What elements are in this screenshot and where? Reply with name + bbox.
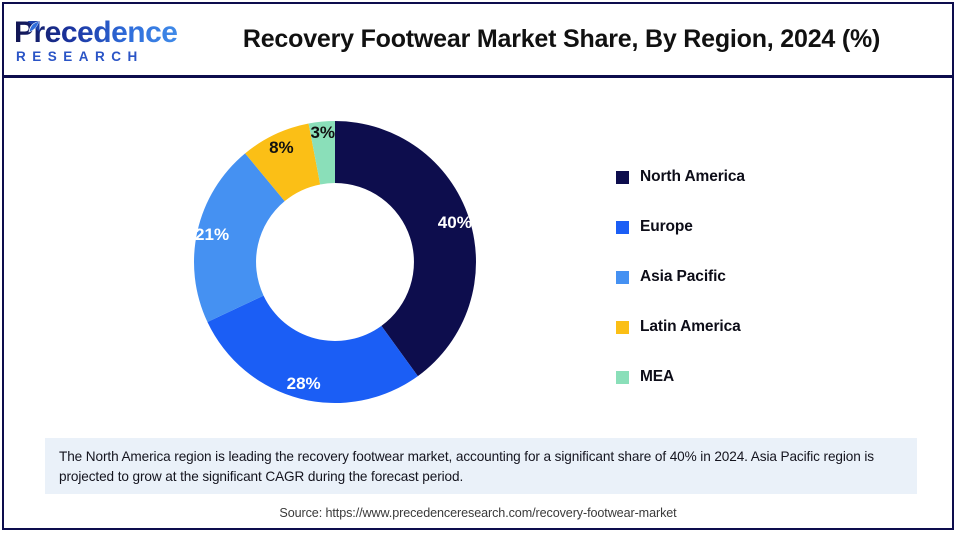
slice-value-label: 8%	[269, 138, 294, 158]
donut-chart: 40%28%21%8%3%	[193, 120, 477, 404]
slice-value-label: 3%	[310, 123, 335, 143]
legend-item-label: Europe	[640, 218, 693, 236]
legend-item[interactable]: North America	[616, 152, 866, 202]
legend-item[interactable]: Asia Pacific	[616, 252, 866, 302]
donut-slice[interactable]	[335, 121, 476, 376]
caption-text: The North America region is leading the …	[59, 447, 903, 487]
slice-value-label: 40%	[438, 213, 472, 233]
legend-swatch-icon	[616, 171, 629, 184]
legend-item-label: North America	[640, 168, 745, 186]
legend-item[interactable]: Latin America	[616, 302, 866, 352]
slice-value-label: 28%	[287, 374, 321, 394]
donut-slice-group	[194, 121, 476, 403]
legend-item-label: Asia Pacific	[640, 268, 726, 286]
slice-value-label: 21%	[195, 225, 229, 245]
page-title: Recovery Footwear Market Share, By Regio…	[189, 4, 934, 75]
legend-swatch-icon	[616, 271, 629, 284]
header-bar: Precedence RESEARCH Recovery Footwear Ma…	[4, 4, 952, 78]
logo-subtext: RESEARCH	[16, 49, 144, 64]
source-text: Source: https://www.precedenceresearch.c…	[4, 506, 952, 520]
caption-box: The North America region is leading the …	[45, 438, 917, 494]
chart-area: 40%28%21%8%3% North AmericaEuropeAsia Pa…	[4, 78, 952, 428]
legend-item-label: MEA	[640, 368, 674, 386]
leaf-mark-icon	[26, 20, 41, 36]
chart-frame: Precedence RESEARCH Recovery Footwear Ma…	[2, 2, 954, 530]
legend-swatch-icon	[616, 321, 629, 334]
legend-swatch-icon	[616, 371, 629, 384]
legend-item[interactable]: Europe	[616, 202, 866, 252]
donut-chart-svg	[193, 120, 477, 404]
legend-item-label: Latin America	[640, 318, 741, 336]
legend-swatch-icon	[616, 221, 629, 234]
chart-legend: North AmericaEuropeAsia PacificLatin Ame…	[616, 152, 866, 402]
legend-item[interactable]: MEA	[616, 352, 866, 402]
precedence-research-logo: Precedence RESEARCH	[14, 16, 174, 66]
